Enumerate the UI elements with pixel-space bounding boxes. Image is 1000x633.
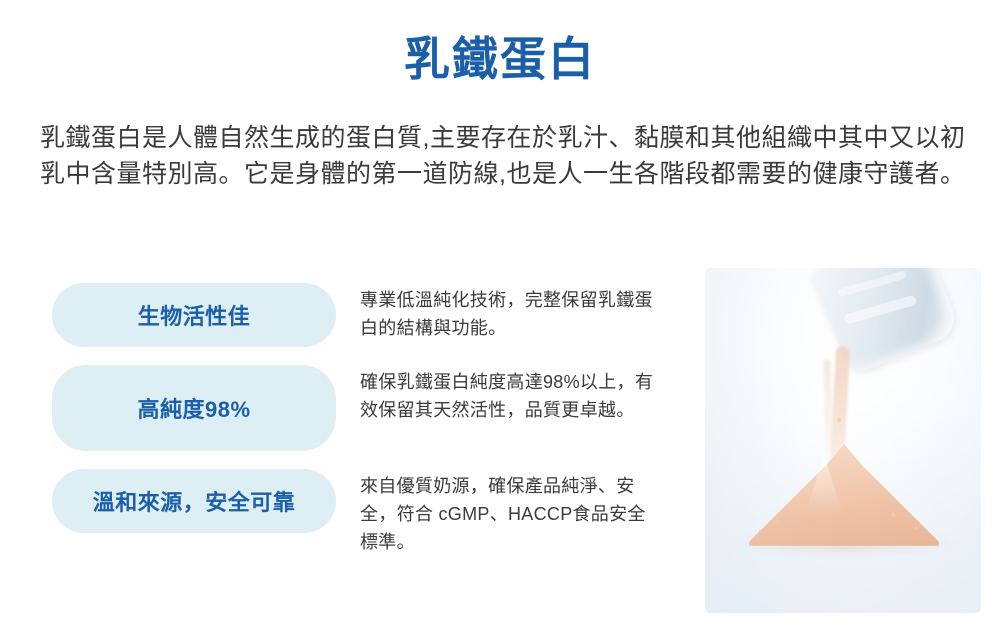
feature-list: 生物活性佳 專業低溫純化技術，完整保留乳鐵蛋白的結構與功能。 高純度98% 確保… [52, 283, 692, 575]
powder-speck [915, 526, 918, 529]
page-title: 乳鐵蛋白 [0, 32, 1000, 87]
powder-speck [775, 518, 779, 522]
infographic-page: 乳鐵蛋白 乳鐵蛋白是人體自然生成的蛋白質,主要存在於乳汁、黏膜和其他組織中其中又… [0, 0, 1000, 633]
feature-description: 專業低溫純化技術，完整保留乳鐵蛋白的結構與功能。 [360, 283, 660, 343]
lactoferrin-powder-photo [705, 268, 981, 613]
feature-pill-purity: 高純度98% [52, 365, 336, 451]
feature-pill-bioactivity: 生物活性佳 [52, 283, 336, 347]
feature-pill-source: 溫和來源，安全可靠 [52, 469, 336, 533]
intro-paragraph: 乳鐵蛋白是人體自然生成的蛋白質,主要存在於乳汁、黏膜和其他組織中其中又以初乳中含… [40, 120, 970, 193]
feature-row: 溫和來源，安全可靠 來自優質奶源，確保產品純淨、安全，符合 cGMP、HACCP… [52, 469, 692, 557]
feature-row: 高純度98% 確保乳鐵蛋白純度高達98%以上，有效保留其天然活性，品質更卓越。 [52, 365, 692, 451]
powder-speck [759, 530, 762, 533]
feature-description: 來自優質奶源，確保產品純淨、安全，符合 cGMP、HACCP食品安全標準。 [360, 469, 660, 557]
powder-speck [891, 512, 896, 517]
feature-description: 確保乳鐵蛋白純度高達98%以上，有效保留其天然活性，品質更卓越。 [360, 365, 660, 425]
feature-row: 生物活性佳 專業低溫純化技術，完整保留乳鐵蛋白的結構與功能。 [52, 283, 692, 347]
powder-speck [837, 418, 841, 422]
